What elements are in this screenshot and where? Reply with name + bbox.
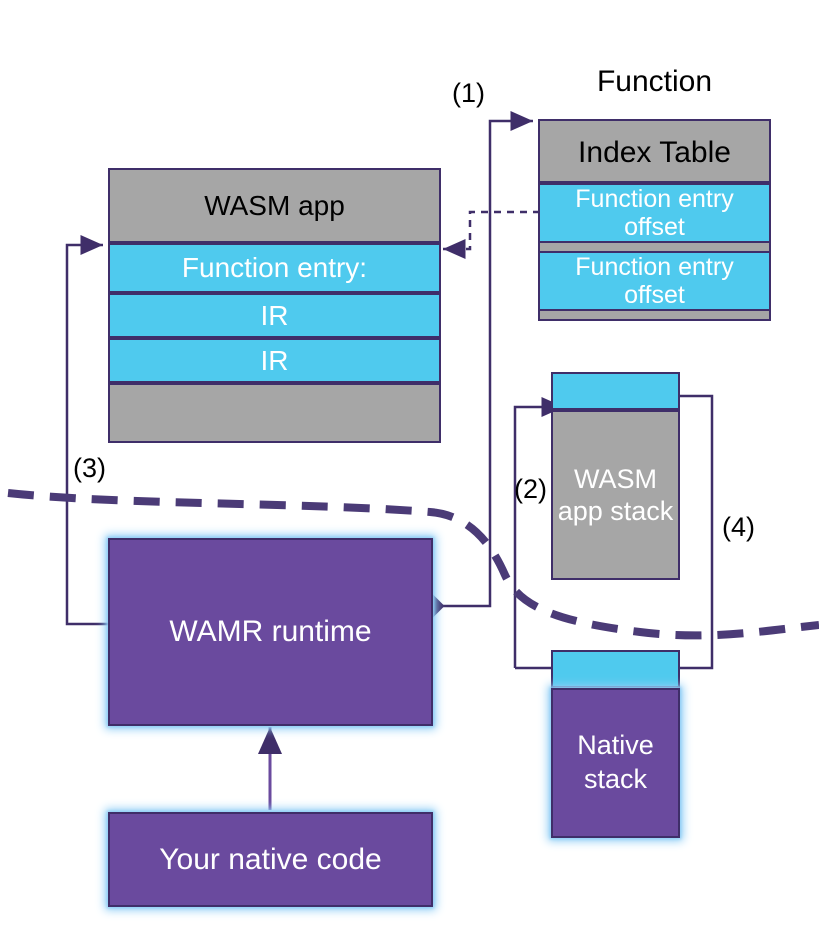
step-label-4: (4) <box>722 512 755 543</box>
function-index-table-title: Function Index Table <box>538 28 771 207</box>
step-label-2: (2) <box>514 474 547 505</box>
diagram-canvas: Function Index Table Function entry offs… <box>0 0 819 925</box>
wamr-runtime-box: WAMR runtime <box>108 538 433 726</box>
wasm-app-function-entry: Function entry: <box>108 243 441 293</box>
wasm-app-box: WASM app Function entry: IR IR <box>108 168 441 443</box>
wasm-app-ir-1: IR <box>108 293 441 338</box>
your-native-code-box: Your native code <box>108 812 433 907</box>
wasm-app-header: WASM app <box>108 168 441 243</box>
fit-separator-1 <box>538 243 771 251</box>
wasm-app-footer <box>108 383 441 443</box>
fit-row-label: Function entry offset <box>548 253 761 309</box>
connector-3-runtime-to-wasm <box>67 245 110 624</box>
wasm-app-stack-body: WASM app stack <box>551 410 680 580</box>
native-stack-body: Native stack <box>551 688 680 838</box>
fit-separator-2 <box>538 311 771 321</box>
native-stack-box: Native stack <box>551 650 680 838</box>
step-label-1: (1) <box>452 78 485 109</box>
connector-1-dashed-return <box>443 212 553 249</box>
wasm-app-stack-header <box>551 372 680 410</box>
native-stack-header <box>551 650 680 688</box>
fit-row-entry-offset-2: Function entry offset <box>538 251 771 311</box>
wasm-app-stack-box: WASM app stack <box>551 372 680 580</box>
wasm-app-ir-2: IR <box>108 338 441 383</box>
step-label-3: (3) <box>73 453 106 484</box>
